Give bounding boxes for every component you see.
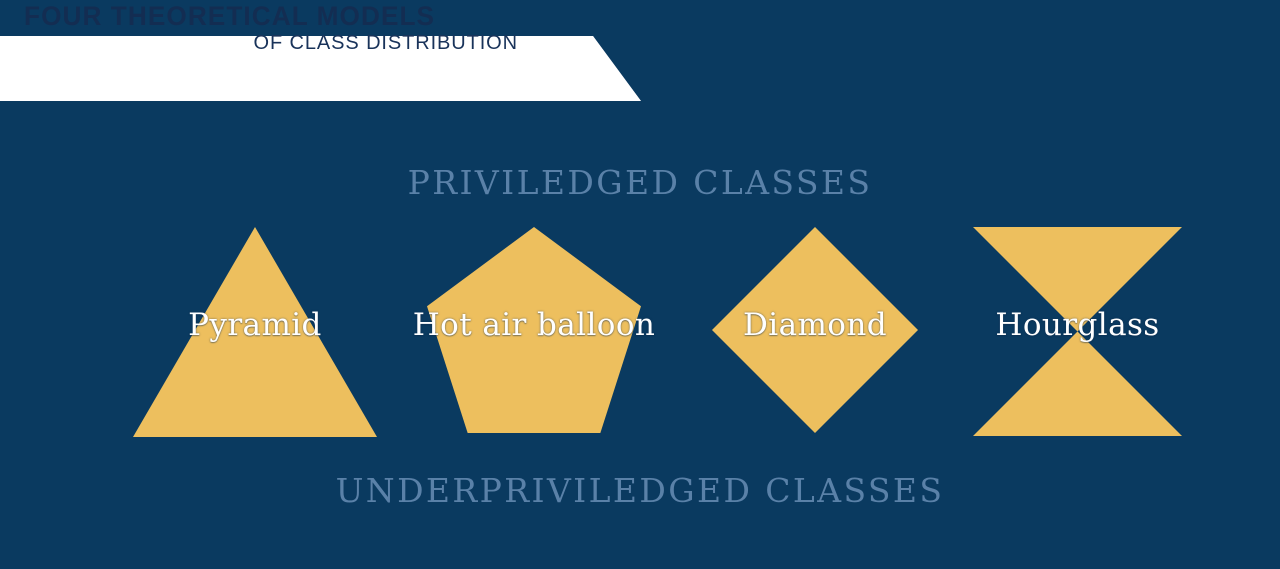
priviledged-classes-caption: PRIVILEDGED CLASSES	[0, 163, 1280, 202]
model-hourglass[interactable]: Hourglass	[973, 222, 1182, 442]
banner-subtitle: OF CLASS DISTRIBUTION	[0, 33, 518, 53]
banner-title: FOUR THEORETICAL MODELS	[24, 3, 435, 30]
model-hourglass-label: Hourglass	[913, 307, 1242, 343]
infographic-canvas: FOUR THEORETICAL MODELS OF CLASS DISTRIB…	[0, 0, 1280, 569]
underpriviledged-classes-caption: UNDERPRIVILEDGED CLASSES	[0, 471, 1280, 510]
models-row: Pyramid Hot air balloon Diamond Hourglas…	[0, 222, 1280, 442]
model-diamond[interactable]: Diamond	[712, 222, 918, 442]
model-hot-air-balloon[interactable]: Hot air balloon	[427, 222, 641, 442]
model-hot-air-balloon-label: Hot air balloon	[367, 307, 701, 343]
model-pyramid[interactable]: Pyramid	[133, 222, 377, 442]
